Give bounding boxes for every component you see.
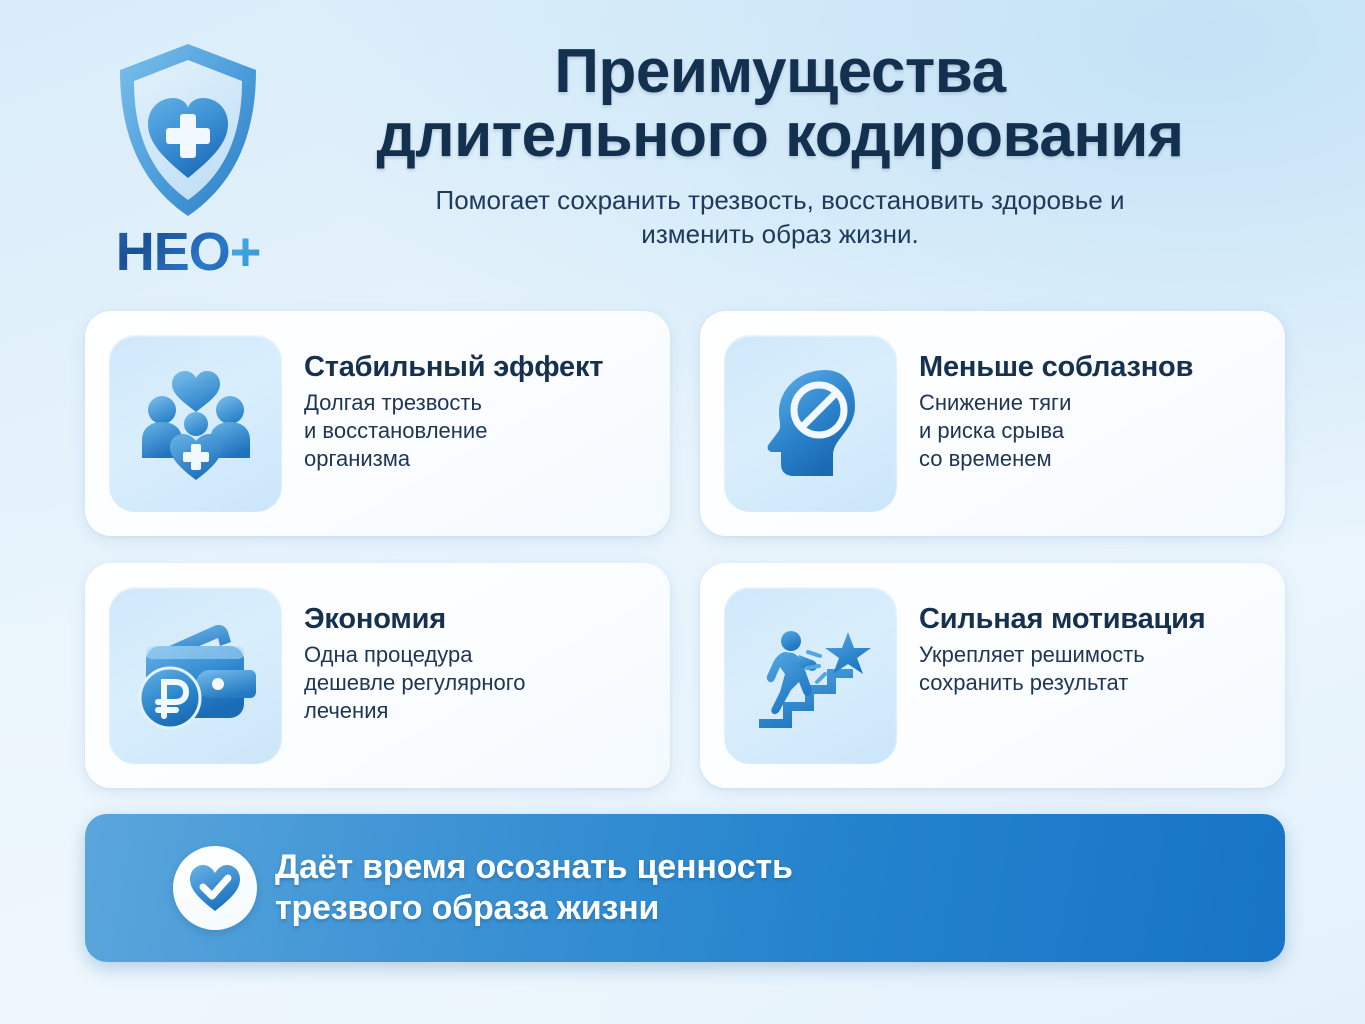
benefit-card-motivation: Сильная мотивация Укрепляет решимость со… — [700, 563, 1285, 788]
card-title: Сильная мотивация — [919, 603, 1263, 635]
family-heart-cross-icon — [132, 360, 260, 488]
stairs-star-climb-icon — [747, 612, 875, 740]
benefit-card-fewer-temptations: Меньше соблазнов Снижение тяги и риска с… — [700, 311, 1285, 536]
infographic-poster: НЕО+ Преимуществадлительного кодирования… — [0, 0, 1365, 1024]
page-subtitle: Помогает сохранить трезвость, восстанови… — [410, 184, 1150, 252]
card-text: Экономия Одна процедура дешевле регулярн… — [282, 587, 648, 725]
heart-check-icon — [188, 861, 242, 915]
card-text: Стабильный эффект Долгая трезвость и вос… — [282, 335, 648, 473]
card-title: Экономия — [304, 603, 648, 635]
brand-logo: НЕО+ — [78, 38, 298, 279]
card-description: Долгая трезвость и восстановление органи… — [304, 389, 648, 472]
title-block: Преимуществадлительного кодирования Помо… — [270, 40, 1290, 251]
card-text: Меньше соблазнов Снижение тяги и риска с… — [897, 335, 1263, 473]
footer-text: Даёт время осознать ценность трезвого об… — [275, 847, 793, 930]
brand-name-plus: + — [230, 222, 261, 282]
page-title-line2: длительного кодирования — [270, 104, 1290, 168]
benefit-card-savings: Экономия Одна процедура дешевле регулярн… — [85, 563, 670, 788]
shield-heart-cross-icon — [108, 38, 268, 223]
icon-tile — [724, 587, 897, 764]
icon-tile — [109, 335, 282, 512]
card-description: Снижение тяги и риска срыва со временем — [919, 389, 1263, 472]
footer-banner: Даёт время осознать ценность трезвого об… — [85, 814, 1285, 962]
benefit-card-stable-effect: Стабильный эффект Долгая трезвость и вос… — [85, 311, 670, 536]
card-title: Стабильный эффект — [304, 351, 648, 383]
icon-tile — [109, 587, 282, 764]
card-description: Укрепляет решимость сохранить результат — [919, 641, 1263, 696]
card-title: Меньше соблазнов — [919, 351, 1263, 383]
benefit-card-grid: Стабильный эффект Долгая трезвость и вос… — [85, 311, 1285, 788]
head-prohibition-icon — [747, 360, 875, 488]
brand-name: НЕО+ — [78, 225, 298, 279]
wallet-ruble-icon — [132, 612, 260, 740]
header: НЕО+ Преимуществадлительного кодирования… — [0, 0, 1365, 305]
card-description: Одна процедура дешевле регулярного лечен… — [304, 641, 648, 724]
card-text: Сильная мотивация Укрепляет решимость со… — [897, 587, 1263, 697]
page-title-line1: Преимущества — [554, 37, 1005, 106]
icon-tile — [724, 335, 897, 512]
footer-badge — [173, 846, 257, 930]
page-title: Преимуществадлительного кодирования — [270, 40, 1290, 168]
brand-name-text: НЕО — [116, 222, 230, 282]
